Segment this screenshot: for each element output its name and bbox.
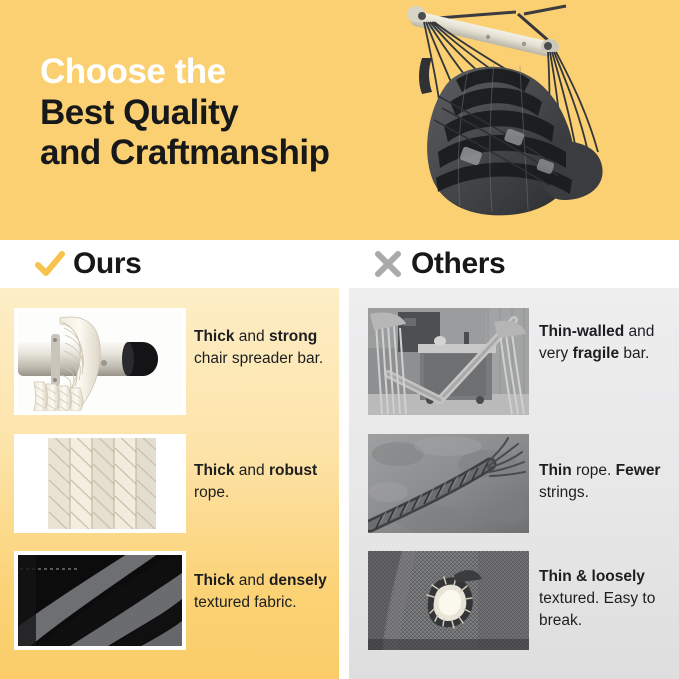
others-header: Others: [371, 240, 505, 288]
ours-thumbnail-spreader-bar: [14, 308, 186, 415]
ours-caption-3: Thick and densely textured fabric.: [194, 570, 334, 614]
others-caption-2: Thin rope. Fewer strings.: [539, 460, 679, 504]
ours-panel: Thick and strong chair spreader bar.: [0, 288, 339, 679]
ours-thumbnail-rope: [14, 434, 186, 533]
others-thumbnail-thin-rope: [368, 434, 529, 533]
ours-header: Ours: [33, 240, 141, 288]
ours-thumbnail-fabric: [14, 551, 186, 650]
title-line-3: and Craftmanship: [40, 133, 330, 174]
others-caption-1: Thin-walled and very fragile bar.: [539, 321, 679, 365]
infographic-root: Choose the Best Quality and Craftmanship: [0, 0, 679, 679]
ours-caption-1: Thick and strong chair spreader bar.: [194, 326, 334, 370]
others-thumbnail-torn-fabric: [368, 551, 529, 650]
hammock-chair-product-image: [398, 0, 679, 240]
ours-label: Ours: [73, 247, 141, 281]
page-title: Choose the Best Quality and Craftmanship: [40, 52, 330, 174]
ours-caption-2: Thick and robust rope.: [194, 460, 334, 504]
others-panel: Thin-walled and very fragile bar.: [349, 288, 679, 679]
hero-banner: Choose the Best Quality and Craftmanship: [0, 0, 679, 240]
title-line-2: Best Quality: [40, 93, 330, 134]
title-line-1: Choose the: [40, 52, 330, 93]
check-icon: [33, 247, 67, 281]
comparison-header-band: Ours Others: [0, 240, 679, 288]
cross-icon: [371, 247, 405, 281]
others-label: Others: [411, 247, 505, 281]
others-thumbnail-thin-bar: [368, 308, 529, 415]
others-caption-3: Thin & loosely textured. Easy to break.: [539, 566, 679, 632]
